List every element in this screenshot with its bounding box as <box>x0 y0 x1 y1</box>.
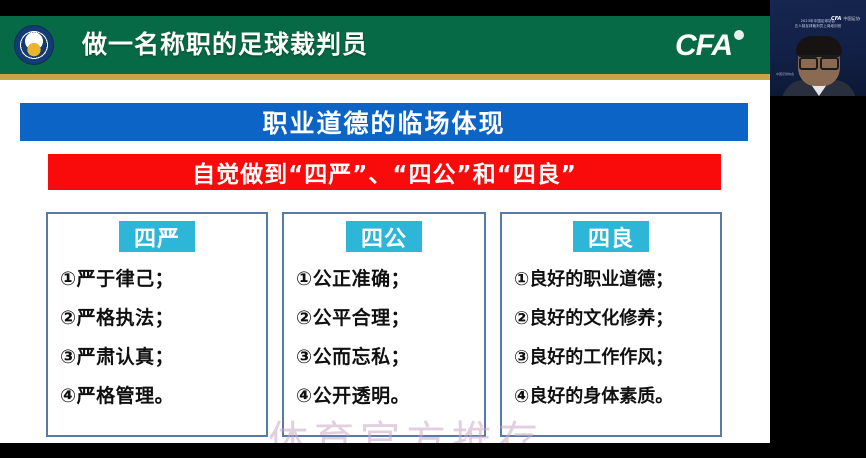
glasses-icon <box>799 55 839 64</box>
list-item: ②严格执法； <box>60 299 266 338</box>
registered-ball-icon <box>734 30 744 40</box>
list-item: ③公而忘私； <box>296 338 484 377</box>
cfa-badge-icon <box>14 25 54 65</box>
header-accent-strip <box>0 74 770 80</box>
list-item: ③严肃认真； <box>60 338 266 377</box>
list-item: ③良好的工作作风； <box>514 338 720 377</box>
subsection-title-text: 自觉做到“四严”、“四公”和“四良” <box>192 155 577 189</box>
video-corner-label: 中国足球协会 <box>776 72 794 76</box>
video-cfa-logo-sub: 中国足协 <box>843 16 860 21</box>
slide-header-bar: 做一名称职的足球裁判员 CFA <box>0 16 770 74</box>
content-box-sigong: 四公 ①公正准确； ②公平合理； ③公而忘私； ④公开透明。 <box>282 212 486 437</box>
content-box-list: ①良好的职业道德； ②良好的文化修养； ③良好的工作作风； ④良好的身体素质。 <box>502 256 720 416</box>
section-title-text: 职业道德的临场体现 <box>262 104 505 140</box>
list-item: ①公正准确； <box>296 260 484 299</box>
page-title: 做一名称职的足球裁判员 <box>82 28 368 62</box>
list-item: ④公开透明。 <box>296 377 484 416</box>
content-box-title: 四公 <box>346 221 422 252</box>
list-item: ①严于律己； <box>60 260 266 299</box>
content-box-group: 四严 ①严于律己； ②严格执法； ③严肃认真； ④严格管理。 四公 ①公正准确；… <box>46 212 722 437</box>
screen: 做一名称职的足球裁判员 CFA 职业道德的临场体现 自觉做到“四严”、“四公”和… <box>0 0 866 458</box>
video-cfa-logo-text: CFA <box>831 16 841 22</box>
presentation-slide: 做一名称职的足球裁判员 CFA 职业道德的临场体现 自觉做到“四严”、“四公”和… <box>0 16 770 443</box>
content-box-siliang: 四良 ①良好的职业道德； ②良好的文化修养； ③良好的工作作风； ④良好的身体素… <box>500 212 722 437</box>
list-item: ②公平合理； <box>296 299 484 338</box>
speaker-hair <box>796 36 842 56</box>
speaker-video-overlay[interactable]: 2023年中国足球协会 五人制足球裁判员上岗培训班 CFA中国足协 中国足球协会 <box>770 0 866 96</box>
content-box-list: ①公正准确； ②公平合理； ③公而忘私； ④公开透明。 <box>284 256 484 416</box>
content-box-siyan: 四严 ①严于律己； ②严格执法； ③严肃认真； ④严格管理。 <box>46 212 268 437</box>
list-item: ①良好的职业道德； <box>514 260 720 299</box>
video-caption-line-2: 五人制足球裁判员上岗培训班 <box>784 24 852 29</box>
section-title-banner: 职业道德的临场体现 <box>20 103 748 141</box>
content-box-title: 四良 <box>573 221 649 252</box>
list-item: ④严格管理。 <box>60 377 266 416</box>
content-box-list: ①严于律己； ②严格执法； ③严肃认真； ④严格管理。 <box>48 256 266 416</box>
video-cfa-logo: CFA中国足协 <box>831 16 860 22</box>
list-item: ④良好的身体素质。 <box>514 377 720 416</box>
content-box-title: 四严 <box>119 221 195 252</box>
list-item: ②良好的文化修养； <box>514 299 720 338</box>
cfa-wordmark: CFA <box>675 29 732 63</box>
subsection-title-banner: 自觉做到“四严”、“四公”和“四良” <box>48 154 721 190</box>
